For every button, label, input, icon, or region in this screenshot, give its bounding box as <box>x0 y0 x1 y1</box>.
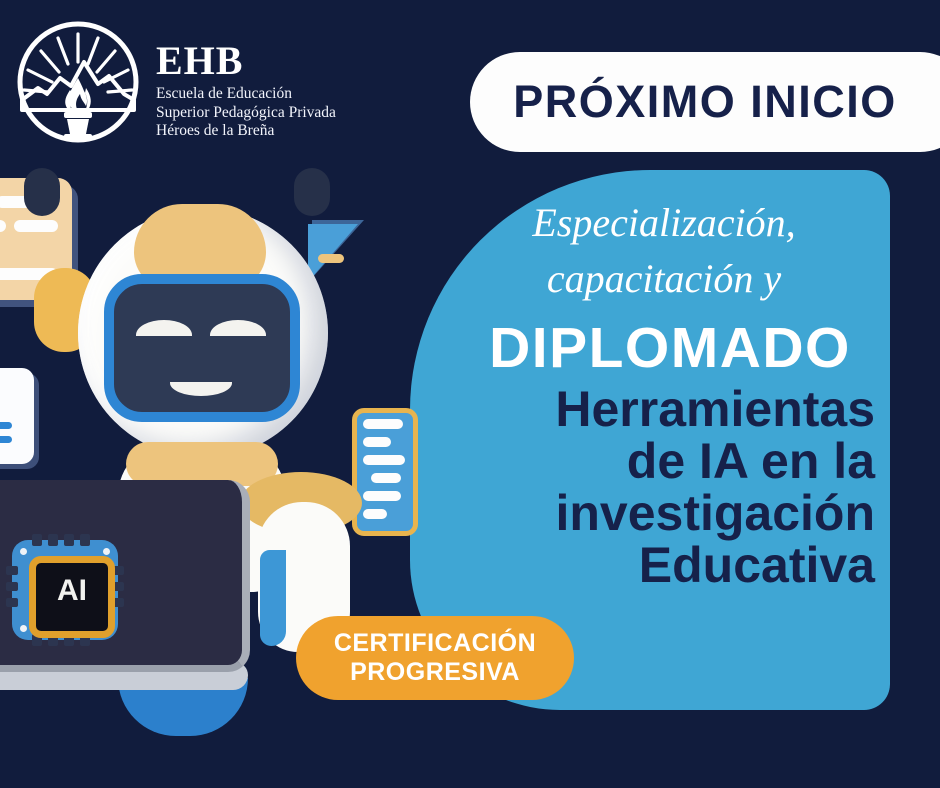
robot-smile <box>170 370 232 396</box>
program-title: Herramientas de IA en la investigación E… <box>455 383 885 591</box>
badge-line-1: CERTIFICACIÓN <box>334 629 536 658</box>
blue-list-card-icon <box>352 408 418 536</box>
logo-acronym: EHB <box>156 42 336 80</box>
logo-line-3: Héroes de la Breña <box>156 122 336 141</box>
title-line-1: Herramientas <box>455 383 875 435</box>
robot-head <box>78 208 328 458</box>
proximo-inicio-banner: PRÓXIMO INICIO <box>470 52 940 152</box>
ai-chip-label: AI <box>36 563 108 619</box>
brand-logo: EHB Escuela de Educación Superior Pedagó… <box>14 18 336 146</box>
banner-label: PRÓXIMO INICIO <box>470 76 940 128</box>
promo-poster: EHB Escuela de Educación Superior Pedagó… <box>0 0 940 788</box>
robot-ear-lens-left <box>24 168 60 216</box>
panel-text-block: Especialización, capacitación y DIPLOMAD… <box>455 195 885 591</box>
robot-eye-left <box>136 320 192 350</box>
robot-ear-lens-right <box>294 168 330 216</box>
ai-chip-core: AI <box>29 556 115 638</box>
laptop-screen: AI <box>0 480 250 672</box>
ai-chip-icon: AI <box>12 540 118 640</box>
certification-badge: CERTIFICACIÓN PROGRESIVA <box>296 616 574 700</box>
script-line-2: capacitación y <box>455 251 885 307</box>
blue-triangle-card-icon <box>306 216 372 286</box>
ehb-emblem-icon <box>14 18 142 146</box>
robot-eye-right <box>210 320 266 350</box>
badge-line-2: PROGRESIVA <box>350 658 520 687</box>
robot-arm-accent <box>260 550 286 646</box>
title-line-4: Educativa <box>455 539 875 591</box>
white-list-card-icon <box>0 368 34 464</box>
title-line-3: investigación <box>455 487 875 539</box>
robot-face-screen <box>104 274 300 422</box>
logo-line-2: Superior Pedagógica Privada <box>156 104 336 123</box>
logo-line-1: Escuela de Educación <box>156 85 336 104</box>
program-type: DIPLOMADO <box>455 317 885 379</box>
script-line-1: Especialización, <box>455 195 885 251</box>
title-line-2: de IA en la <box>455 435 875 487</box>
